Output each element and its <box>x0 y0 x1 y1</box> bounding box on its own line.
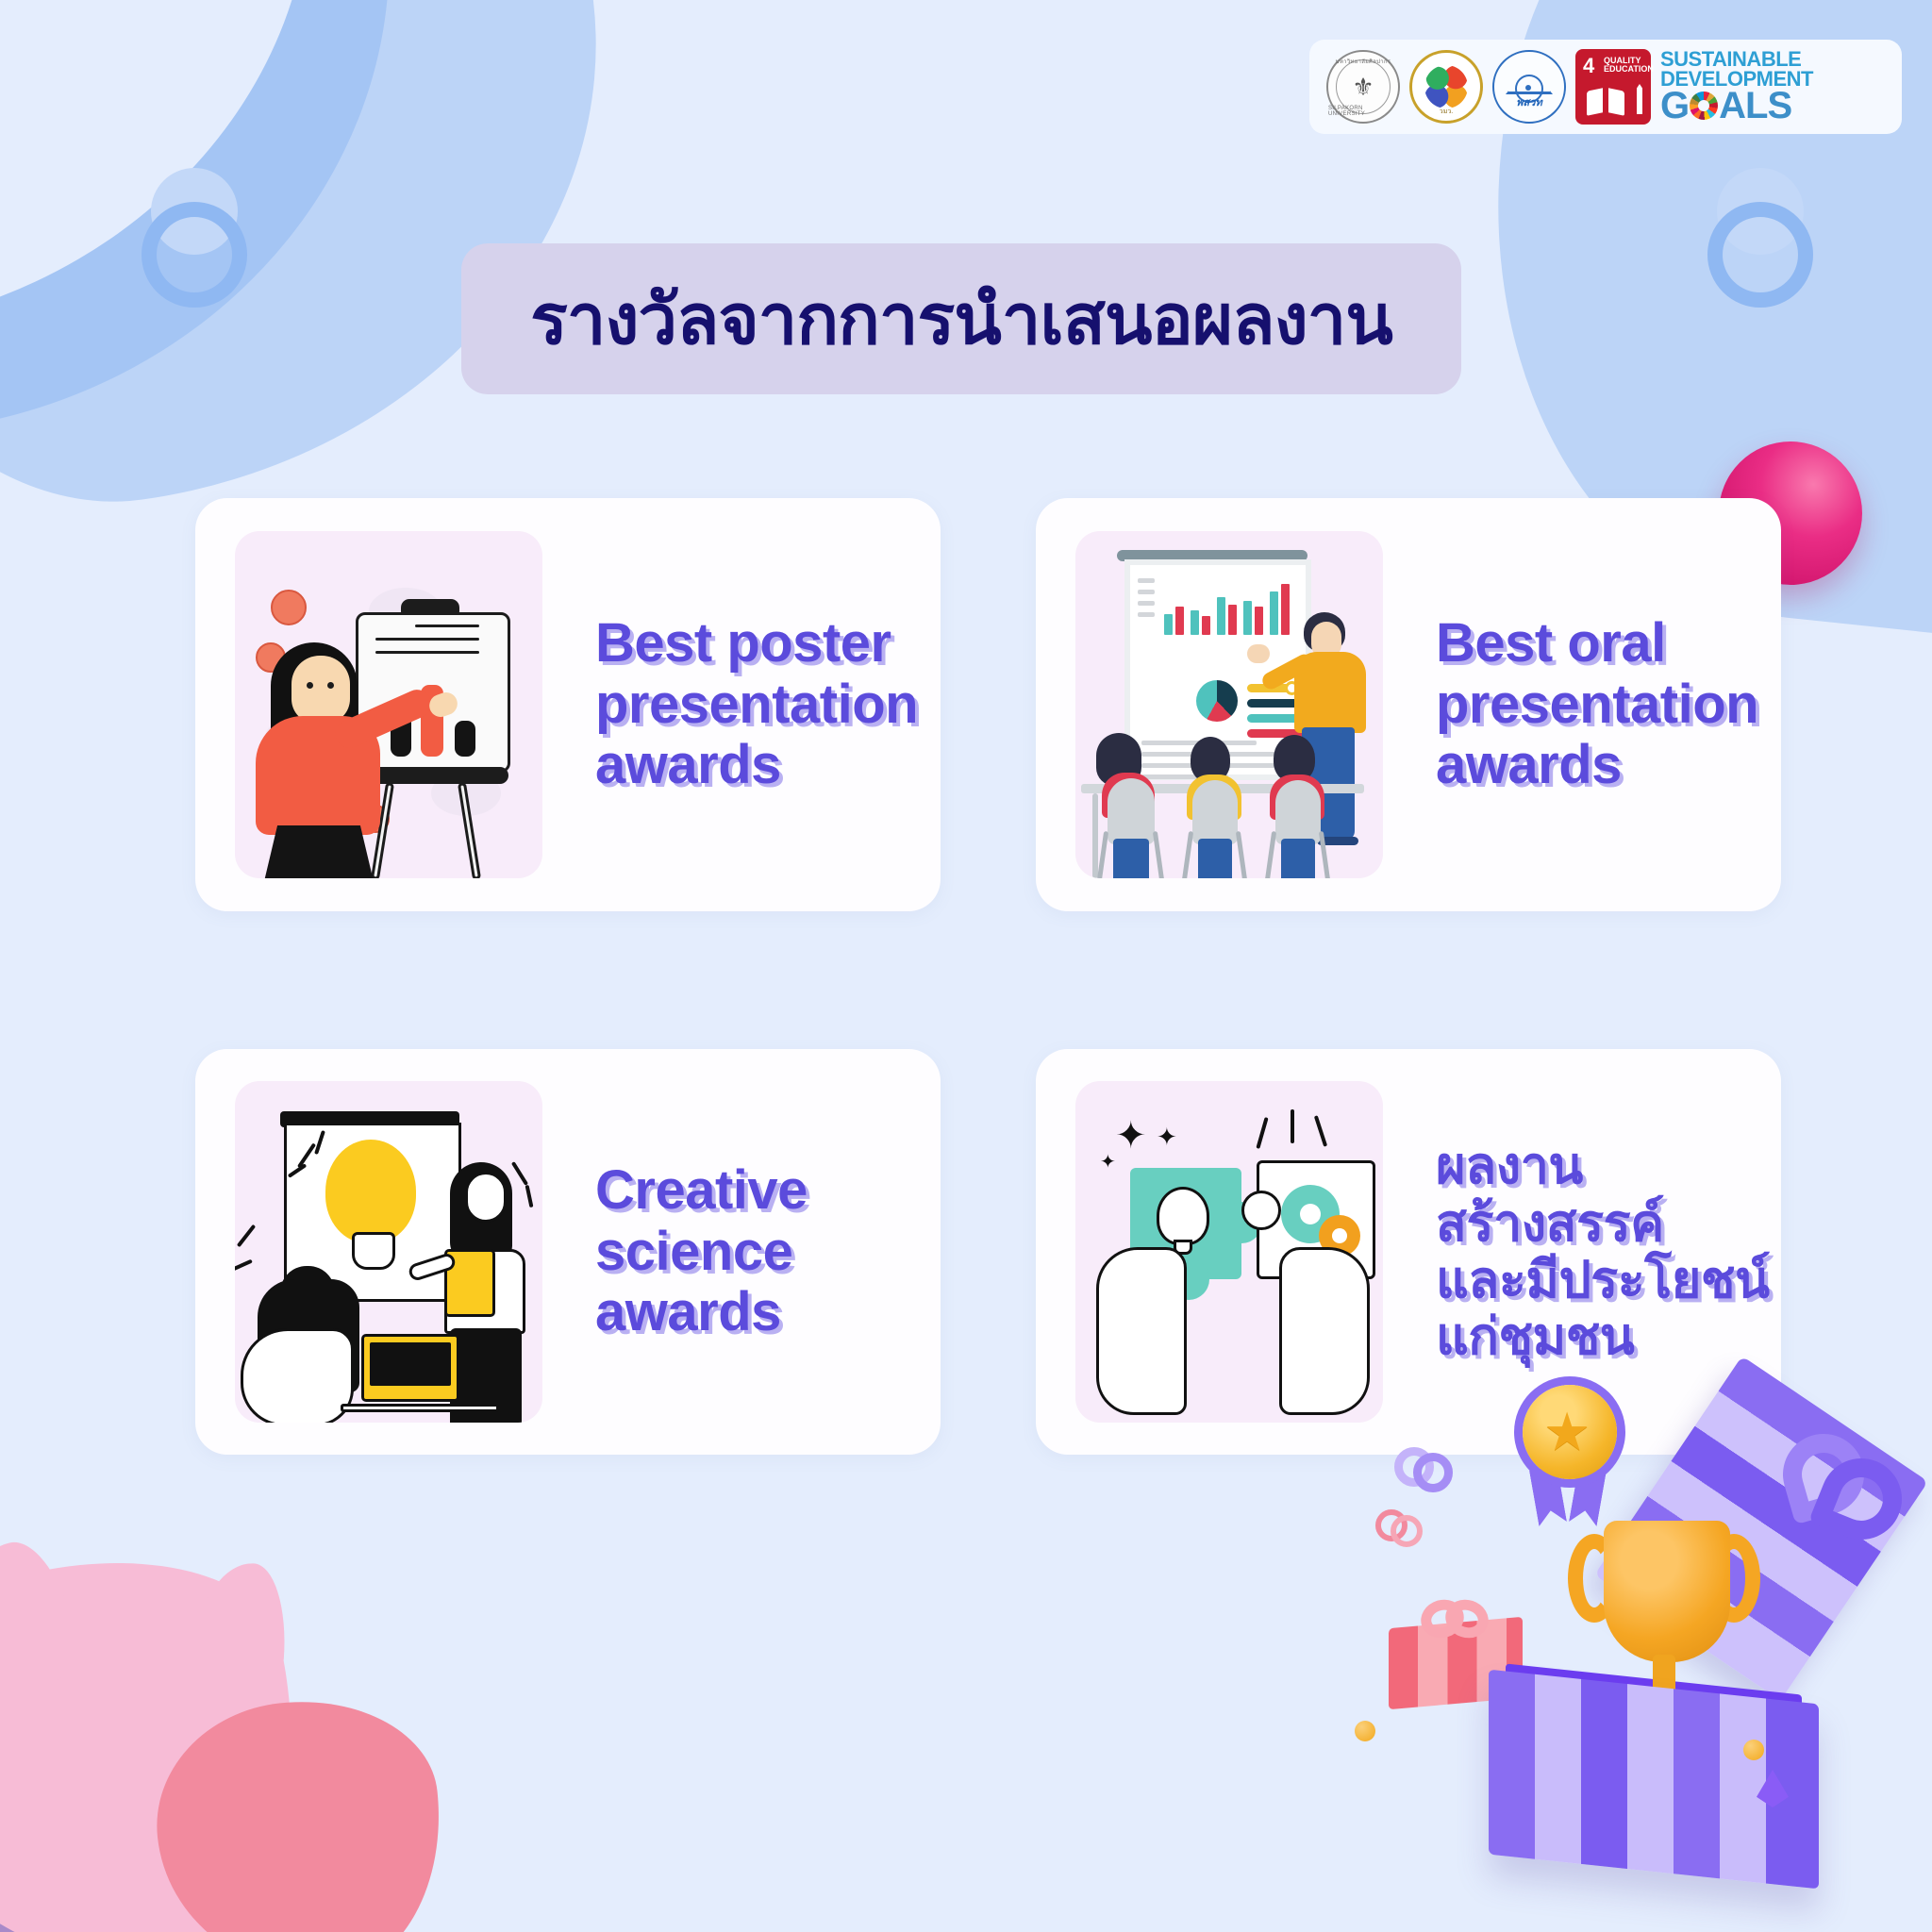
gift-bow-purple <box>1783 1434 1924 1566</box>
desk <box>341 1404 499 1412</box>
lightbulb-icon <box>325 1140 416 1243</box>
page-title-banner: รางวัลจากการนำเสนอผลงาน <box>461 243 1461 394</box>
page-title: รางวัลจากการนำเสนอผลงาน <box>530 263 1392 375</box>
lightbulb-icon <box>1157 1187 1209 1245</box>
illustration-puzzle-collaboration: ✦ ✦ ✦ <box>1075 1081 1383 1423</box>
purple-ribbon-coil <box>1394 1447 1460 1500</box>
pencil-icon <box>1637 84 1642 114</box>
laptop <box>361 1334 459 1402</box>
sdg-goal-title: QUALITYEDUCATION <box>1604 57 1654 75</box>
award-card-label: Best oral presentation awards <box>1436 613 1758 797</box>
illustration-oral-presentation <box>1075 531 1383 878</box>
award-card-best-poster[interactable]: Best poster presentation awards <box>195 498 941 911</box>
silpakorn-university-seal: มหาวิทยาลัยศิลปากร ⚜ SILPAKORN UNIVERSIT… <box>1326 50 1400 124</box>
award-card-creative-science[interactable]: Creative science awards <box>195 1049 941 1455</box>
bean-bag-chair <box>241 1328 354 1423</box>
award-medal: ★ <box>1513 1385 1626 1504</box>
lightbulb-base <box>352 1232 395 1270</box>
ring-decoration-left <box>142 168 283 309</box>
confetti-dot-2 <box>1743 1740 1764 1760</box>
star-icon: ★ <box>1543 1406 1591 1458</box>
vmv-label: วมว. <box>1440 107 1453 117</box>
standing-woman-face <box>465 1172 507 1223</box>
sdg-line-3: G ALS <box>1660 89 1813 124</box>
illustration-poster-presentation <box>235 531 542 878</box>
pink-ribbon-coil <box>1375 1509 1428 1551</box>
sparkle-icon-large: ✦ <box>1115 1117 1147 1155</box>
open-book-icon <box>1587 88 1624 114</box>
sdg-wordmark: SUSTAINABLE DEVELOPMENT G ALS <box>1660 50 1813 123</box>
trophy-gift-decoration: ★ <box>1349 1343 1932 1932</box>
sparkle-icon-small: ✦ <box>1157 1124 1177 1149</box>
presenter-skirt <box>261 825 376 878</box>
seal-bottom-text: SILPAKORN UNIVERSITY <box>1328 106 1398 117</box>
illustration-creative-science <box>235 1081 542 1423</box>
posawot-word: พสวท <box>1516 93 1541 110</box>
ring-decoration-right <box>1707 168 1849 309</box>
pie-chart <box>1196 680 1238 722</box>
sparkle-icon-tiny: ✦ <box>1100 1153 1116 1172</box>
presenter-face <box>291 656 350 724</box>
award-card-best-oral[interactable]: Best oral presentation awards <box>1036 498 1781 911</box>
colored-knot-icon <box>1424 65 1468 108</box>
vmv-emblem: วมว. <box>1409 50 1483 124</box>
hand-left <box>1096 1247 1187 1415</box>
award-card-label: Creative science awards <box>595 1160 808 1344</box>
seal-top-text: มหาวิทยาลัยศิลปากร <box>1336 57 1391 66</box>
award-card-label: Best poster presentation awards <box>595 613 918 797</box>
poster-canvas: มหาวิทยาลัยศิลปากร ⚜ SILPAKORN UNIVERSIT… <box>0 0 1932 1932</box>
puzzle-notch <box>1241 1191 1281 1230</box>
partner-logo-strip: มหาวิทยาลัยศิลปากร ⚜ SILPAKORN UNIVERSIT… <box>1309 40 1902 134</box>
posawot-atom-logo: พสวท <box>1492 50 1566 124</box>
award-card-label: ผลงานสร้างสรรค์ และมีประโยชน์ แก่ชุมชน <box>1436 1138 1781 1366</box>
confetti-dot-1 <box>1355 1721 1375 1741</box>
sdg-goal-4-badge: 4 QUALITYEDUCATION <box>1575 49 1651 125</box>
sdg-goal-number: 4 <box>1583 56 1594 76</box>
sdg-color-wheel-icon <box>1690 92 1718 120</box>
